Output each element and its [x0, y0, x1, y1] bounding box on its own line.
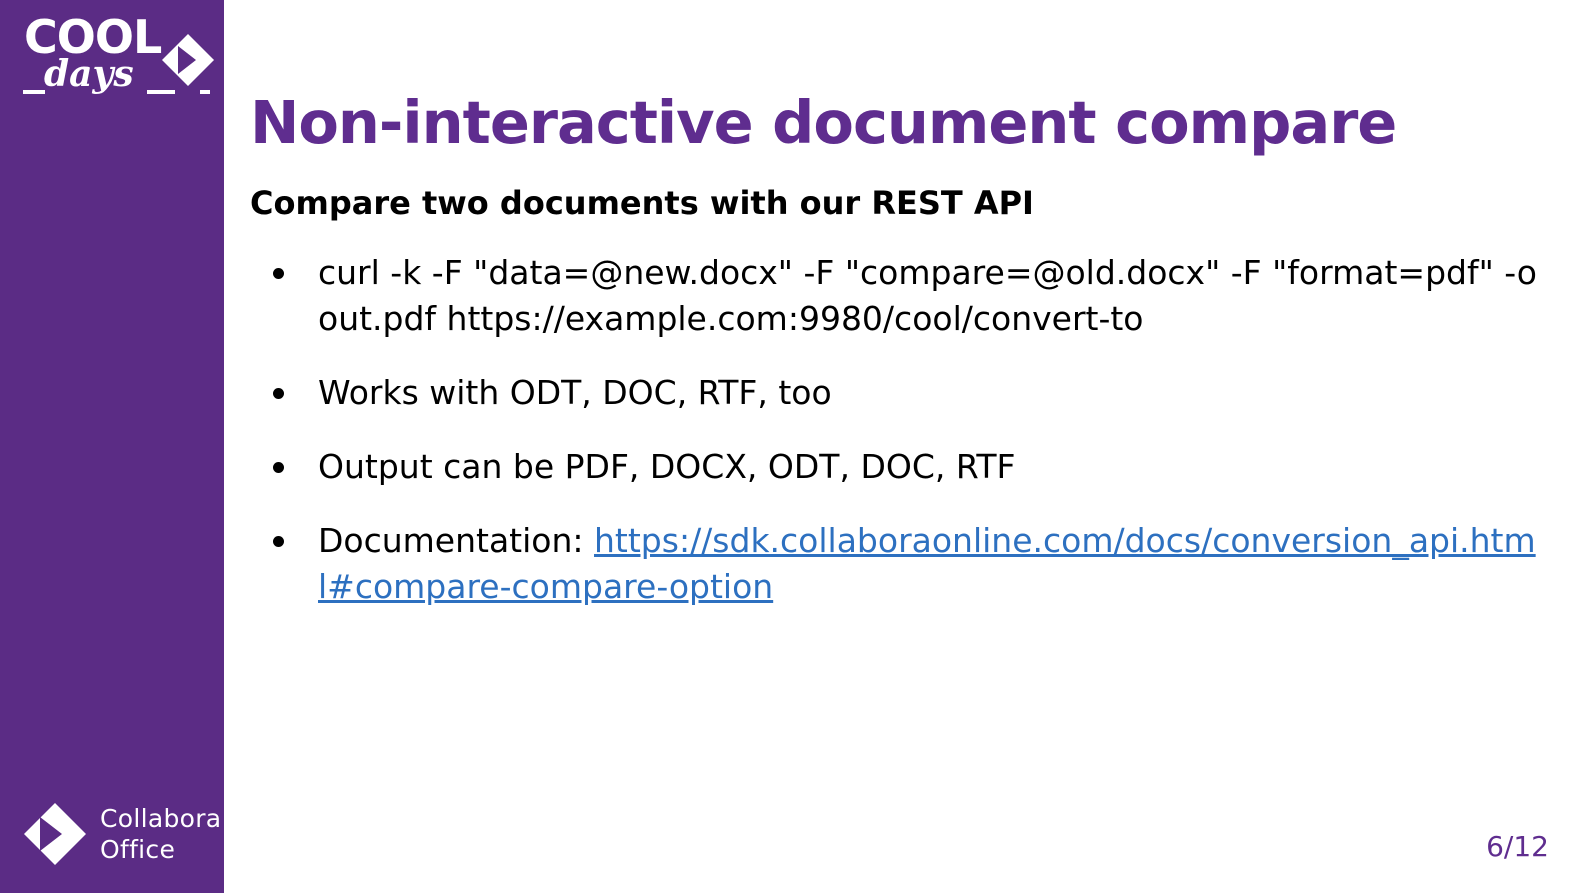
sidebar: COOL days Collabora [0, 0, 224, 893]
collabora-name: Collabora [100, 803, 221, 834]
bullet-list: curl -k -F "data=@new.docx" -F "compare=… [250, 250, 1540, 610]
page-number: 6/12 [1486, 831, 1549, 863]
bullet-marker-icon [273, 388, 284, 399]
diamond-arrow-icon [160, 32, 216, 99]
cool-days-logo: COOL days [18, 14, 208, 109]
list-item-text: Output can be PDF, DOCX, ODT, DOC, RTF [318, 444, 1540, 490]
list-item: Documentation: https://sdk.collaboraonli… [250, 518, 1540, 610]
slide-content: Compare two documents with our REST API … [250, 182, 1540, 610]
list-item-label: Documentation: [318, 521, 594, 560]
collabora-diamond-icon [22, 801, 88, 872]
list-item: Works with ODT, DOC, RTF, too [250, 370, 1540, 416]
slide: COOL days Collabora [0, 0, 1587, 893]
collabora-office-logo: Collabora Office [22, 799, 212, 871]
content-subtitle: Compare two documents with our REST API [250, 182, 1540, 224]
list-item-text: curl -k -F "data=@new.docx" -F "compare=… [318, 250, 1540, 342]
list-item: Output can be PDF, DOCX, ODT, DOC, RTF [250, 444, 1540, 490]
page-title: Non-interactive document compare [250, 88, 1550, 158]
list-item-text: Works with ODT, DOC, RTF, too [318, 370, 1540, 416]
bullet-marker-icon [273, 536, 284, 547]
cool-logo-subword: days [44, 56, 134, 92]
office-name: Office [100, 834, 221, 865]
list-item-text: Documentation: https://sdk.collaboraonli… [318, 518, 1540, 610]
list-item: curl -k -F "data=@new.docx" -F "compare=… [250, 250, 1540, 342]
cool-logo-rule-left [23, 90, 45, 94]
bullet-marker-icon [273, 268, 284, 279]
bullet-marker-icon [273, 462, 284, 473]
collabora-office-text: Collabora Office [100, 803, 221, 865]
